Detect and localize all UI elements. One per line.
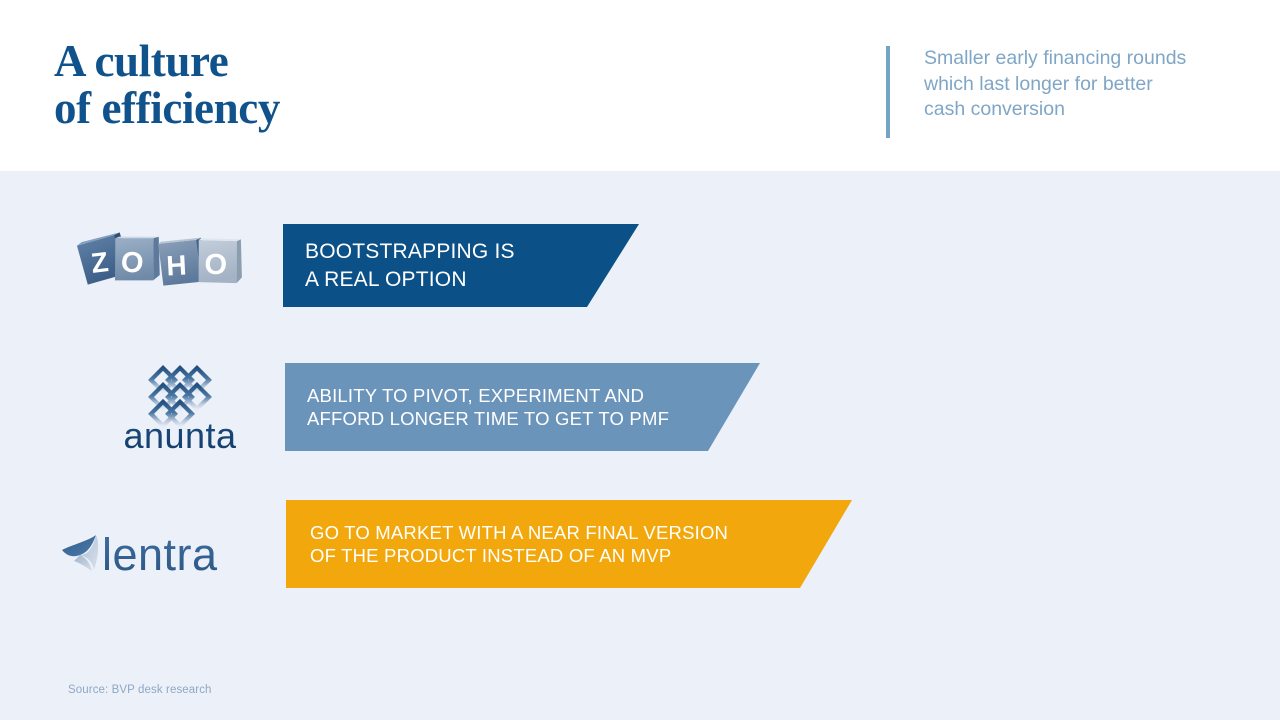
- svg-text:O: O: [119, 246, 145, 280]
- banner-ability-to-pivot-text: ABILITY TO PIVOT, EXPERIMENT AND AFFORD …: [307, 384, 669, 430]
- banner-go-to-market: GO TO MARKET WITH A NEAR FINAL VERSION O…: [286, 500, 852, 588]
- subtitle-block: Smaller early financing rounds which las…: [886, 46, 1186, 138]
- svg-text:anunta: anunta: [123, 415, 237, 454]
- subtitle-divider: [886, 46, 890, 138]
- zoho-logo: Z O H O: [70, 226, 248, 304]
- svg-text:H: H: [166, 249, 188, 281]
- svg-text:lentra: lentra: [102, 529, 218, 580]
- banner-go-to-market-text: GO TO MARKET WITH A NEAR FINAL VERSION O…: [310, 521, 728, 567]
- banner-bootstrapping: BOOTSTRAPPING IS A REAL OPTION: [283, 224, 639, 307]
- subtitle-text: Smaller early financing rounds which las…: [924, 46, 1186, 138]
- banner-ability-to-pivot: ABILITY TO PIVOT, EXPERIMENT AND AFFORD …: [285, 363, 760, 451]
- anunta-logo: anunta: [110, 362, 250, 454]
- source-note: Source: BVP desk research: [68, 684, 212, 696]
- page-title: A culture of efficiency: [54, 38, 674, 132]
- slide-canvas: A culture of efficiency Smaller early fi…: [0, 0, 1280, 720]
- banner-bootstrapping-text: BOOTSTRAPPING IS A REAL OPTION: [305, 238, 515, 294]
- svg-text:O: O: [204, 248, 228, 281]
- lentra-logo: lentra: [58, 524, 263, 580]
